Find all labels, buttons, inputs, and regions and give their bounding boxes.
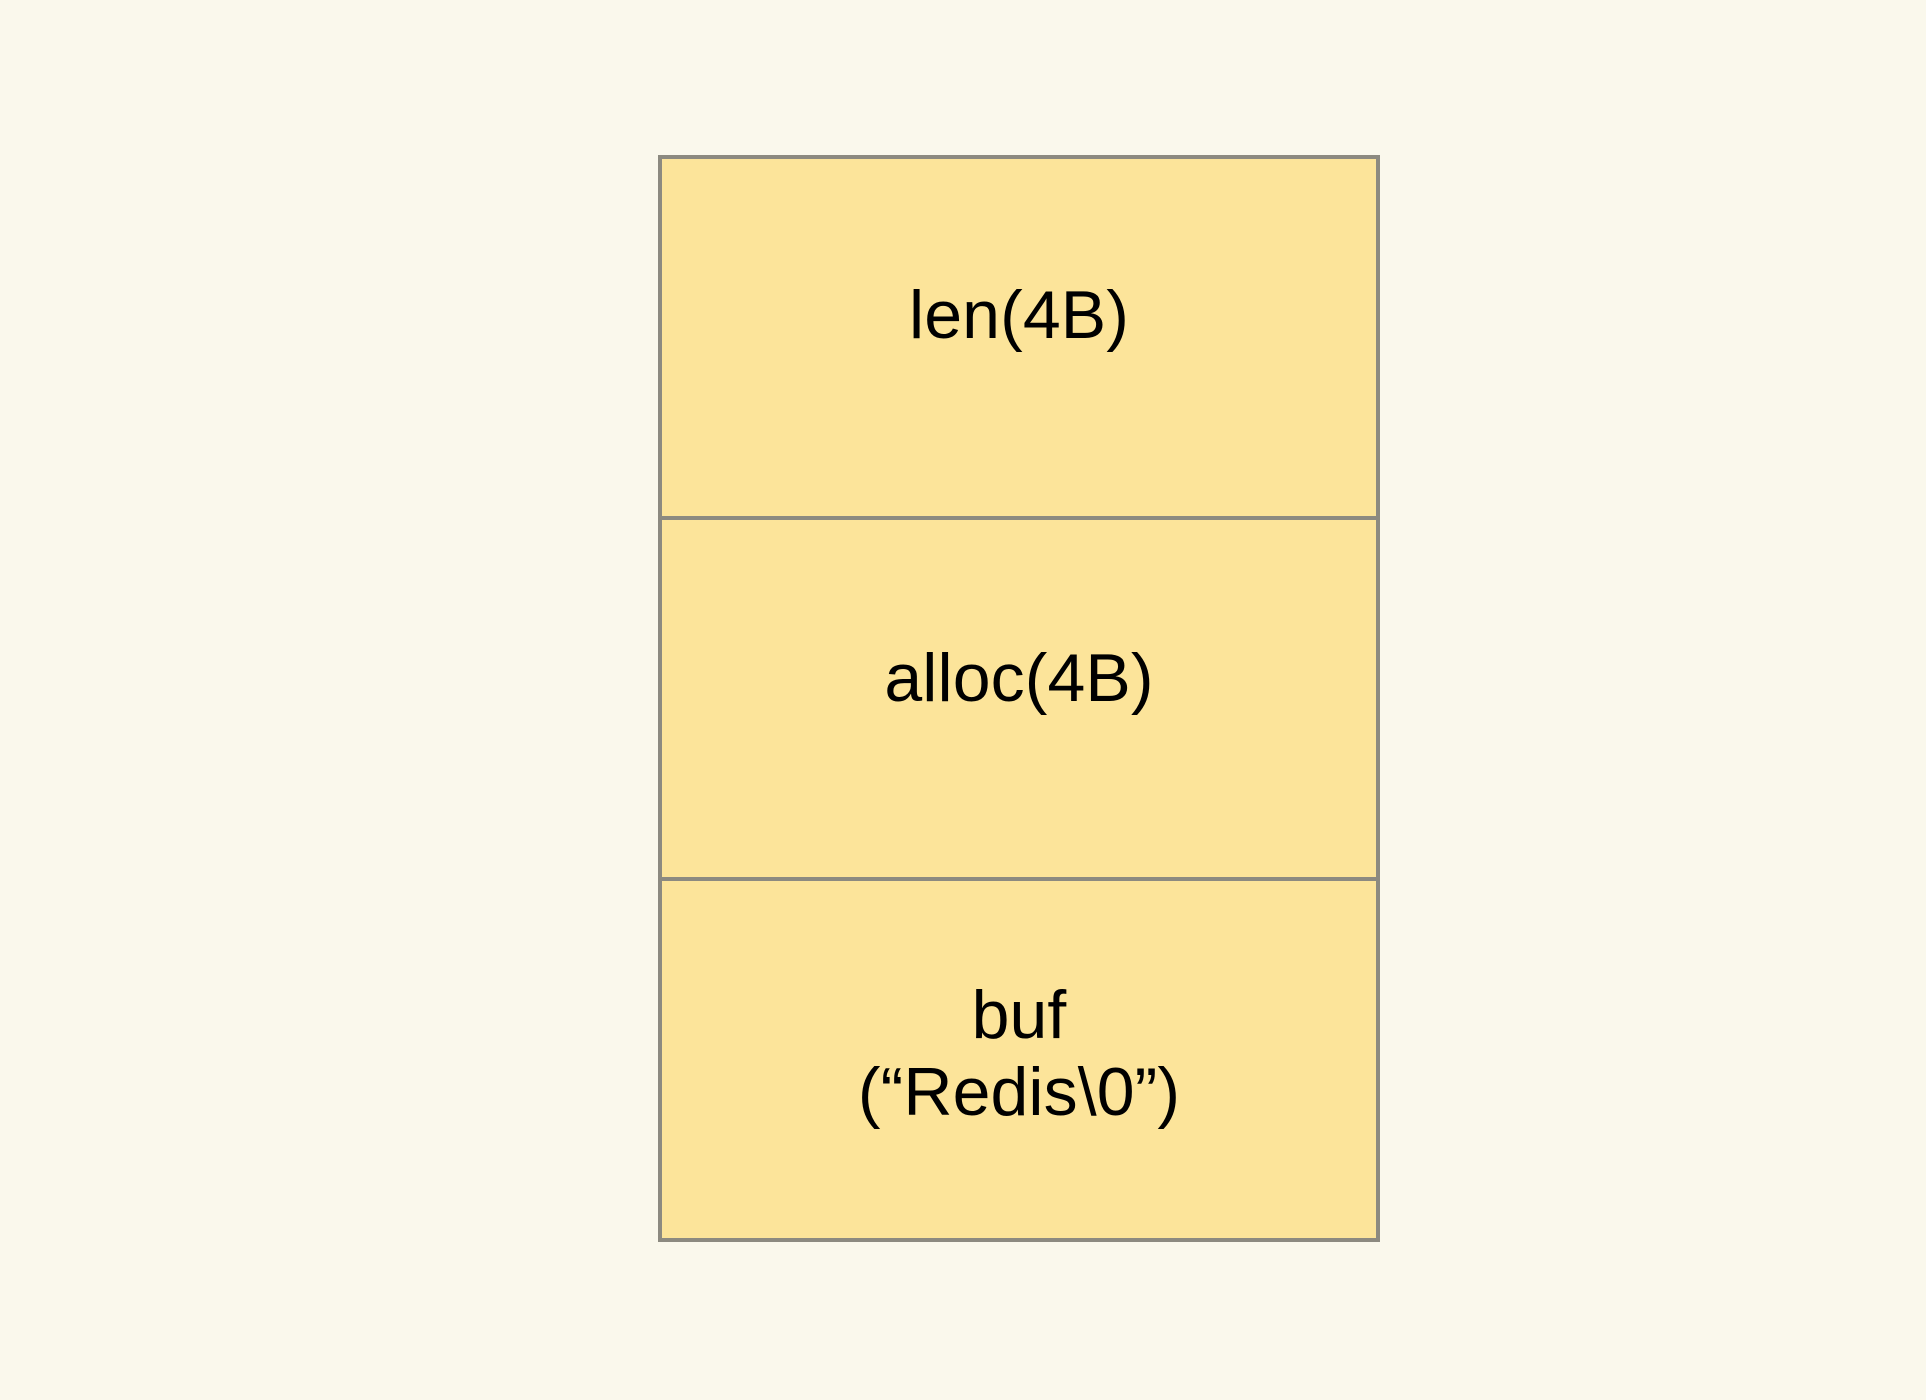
diagram-canvas: len(4B) alloc(4B) buf (“Redis\0”) (0, 0, 1926, 1400)
struct-layout-box: len(4B) alloc(4B) buf (“Redis\0”) (658, 155, 1380, 1242)
struct-field-len-label: len(4B) (909, 277, 1129, 353)
struct-field-alloc: alloc(4B) (662, 516, 1376, 877)
struct-field-buf: buf (“Redis\0”) (662, 877, 1376, 1238)
struct-field-len: len(4B) (662, 159, 1376, 516)
struct-field-alloc-label: alloc(4B) (884, 640, 1153, 716)
struct-field-buf-label: buf (“Redis\0”) (858, 977, 1180, 1129)
